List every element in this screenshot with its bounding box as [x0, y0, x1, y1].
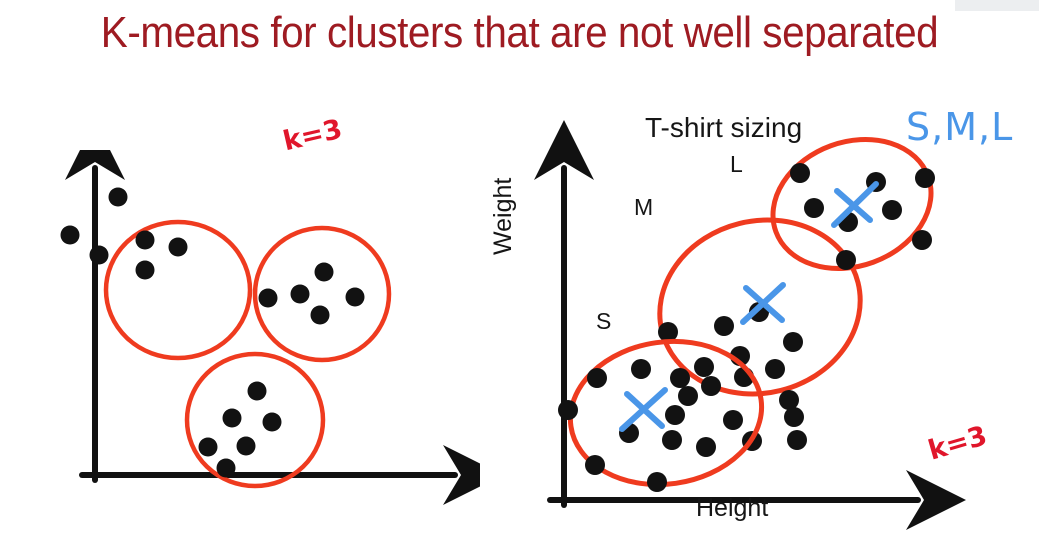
data-point: [701, 376, 721, 396]
data-point: [311, 306, 330, 325]
data-point: [136, 261, 155, 280]
data-point: [585, 455, 605, 475]
cluster-label-large: L: [730, 151, 743, 178]
data-point: [109, 188, 128, 207]
data-point: [346, 288, 365, 307]
data-point: [61, 226, 80, 245]
data-point: [223, 409, 242, 428]
data-point: [790, 163, 810, 183]
data-point: [136, 231, 155, 250]
cluster-circle-2: [255, 228, 389, 360]
x-axis-label-height: Height: [696, 494, 768, 523]
t-shirt-sizing-plot: [500, 110, 1039, 540]
data-point: [915, 168, 935, 188]
data-point: [665, 405, 685, 425]
data-point: [662, 430, 682, 450]
data-point: [696, 437, 716, 457]
handwritten-sml-label: S,M,L: [906, 105, 1013, 149]
data-point: [670, 368, 690, 388]
data-point: [291, 285, 310, 304]
data-point: [783, 332, 803, 352]
data-point: [723, 410, 743, 430]
slide-canvas: K-means for clusters that are not well s…: [0, 0, 1039, 539]
data-point: [199, 438, 218, 457]
data-point: [248, 382, 267, 401]
data-point: [169, 238, 188, 257]
cluster-label-small: S: [596, 308, 611, 335]
data-point: [259, 289, 278, 308]
data-point: [237, 437, 256, 456]
data-point: [912, 230, 932, 250]
data-point: [787, 430, 807, 450]
data-point: [263, 413, 282, 432]
cluster-circle-1: [61, 188, 251, 359]
data-point: [631, 359, 651, 379]
y-axis-label-weight: Weight: [489, 178, 518, 255]
page-title: K-means for clusters that are not well s…: [42, 8, 998, 58]
data-point: [882, 200, 902, 220]
data-point: [90, 246, 109, 265]
data-point: [714, 316, 734, 336]
data-point: [217, 459, 236, 478]
well-separated-clusters-plot: [50, 150, 480, 520]
data-point: [836, 250, 856, 270]
data-point: [678, 386, 698, 406]
data-point: [587, 368, 607, 388]
centroid-marker-small: [622, 390, 665, 429]
data-point: [779, 390, 799, 410]
cluster-label-medium: M: [634, 194, 653, 221]
cluster-circle-3: [187, 354, 323, 486]
chart-title-tshirt-sizing: T-shirt sizing: [645, 112, 802, 144]
data-point: [804, 198, 824, 218]
data-point: [765, 359, 785, 379]
data-point: [647, 472, 667, 492]
data-point: [558, 400, 578, 420]
data-point: [315, 263, 334, 282]
data-point: [694, 357, 714, 377]
data-point: [784, 407, 804, 427]
